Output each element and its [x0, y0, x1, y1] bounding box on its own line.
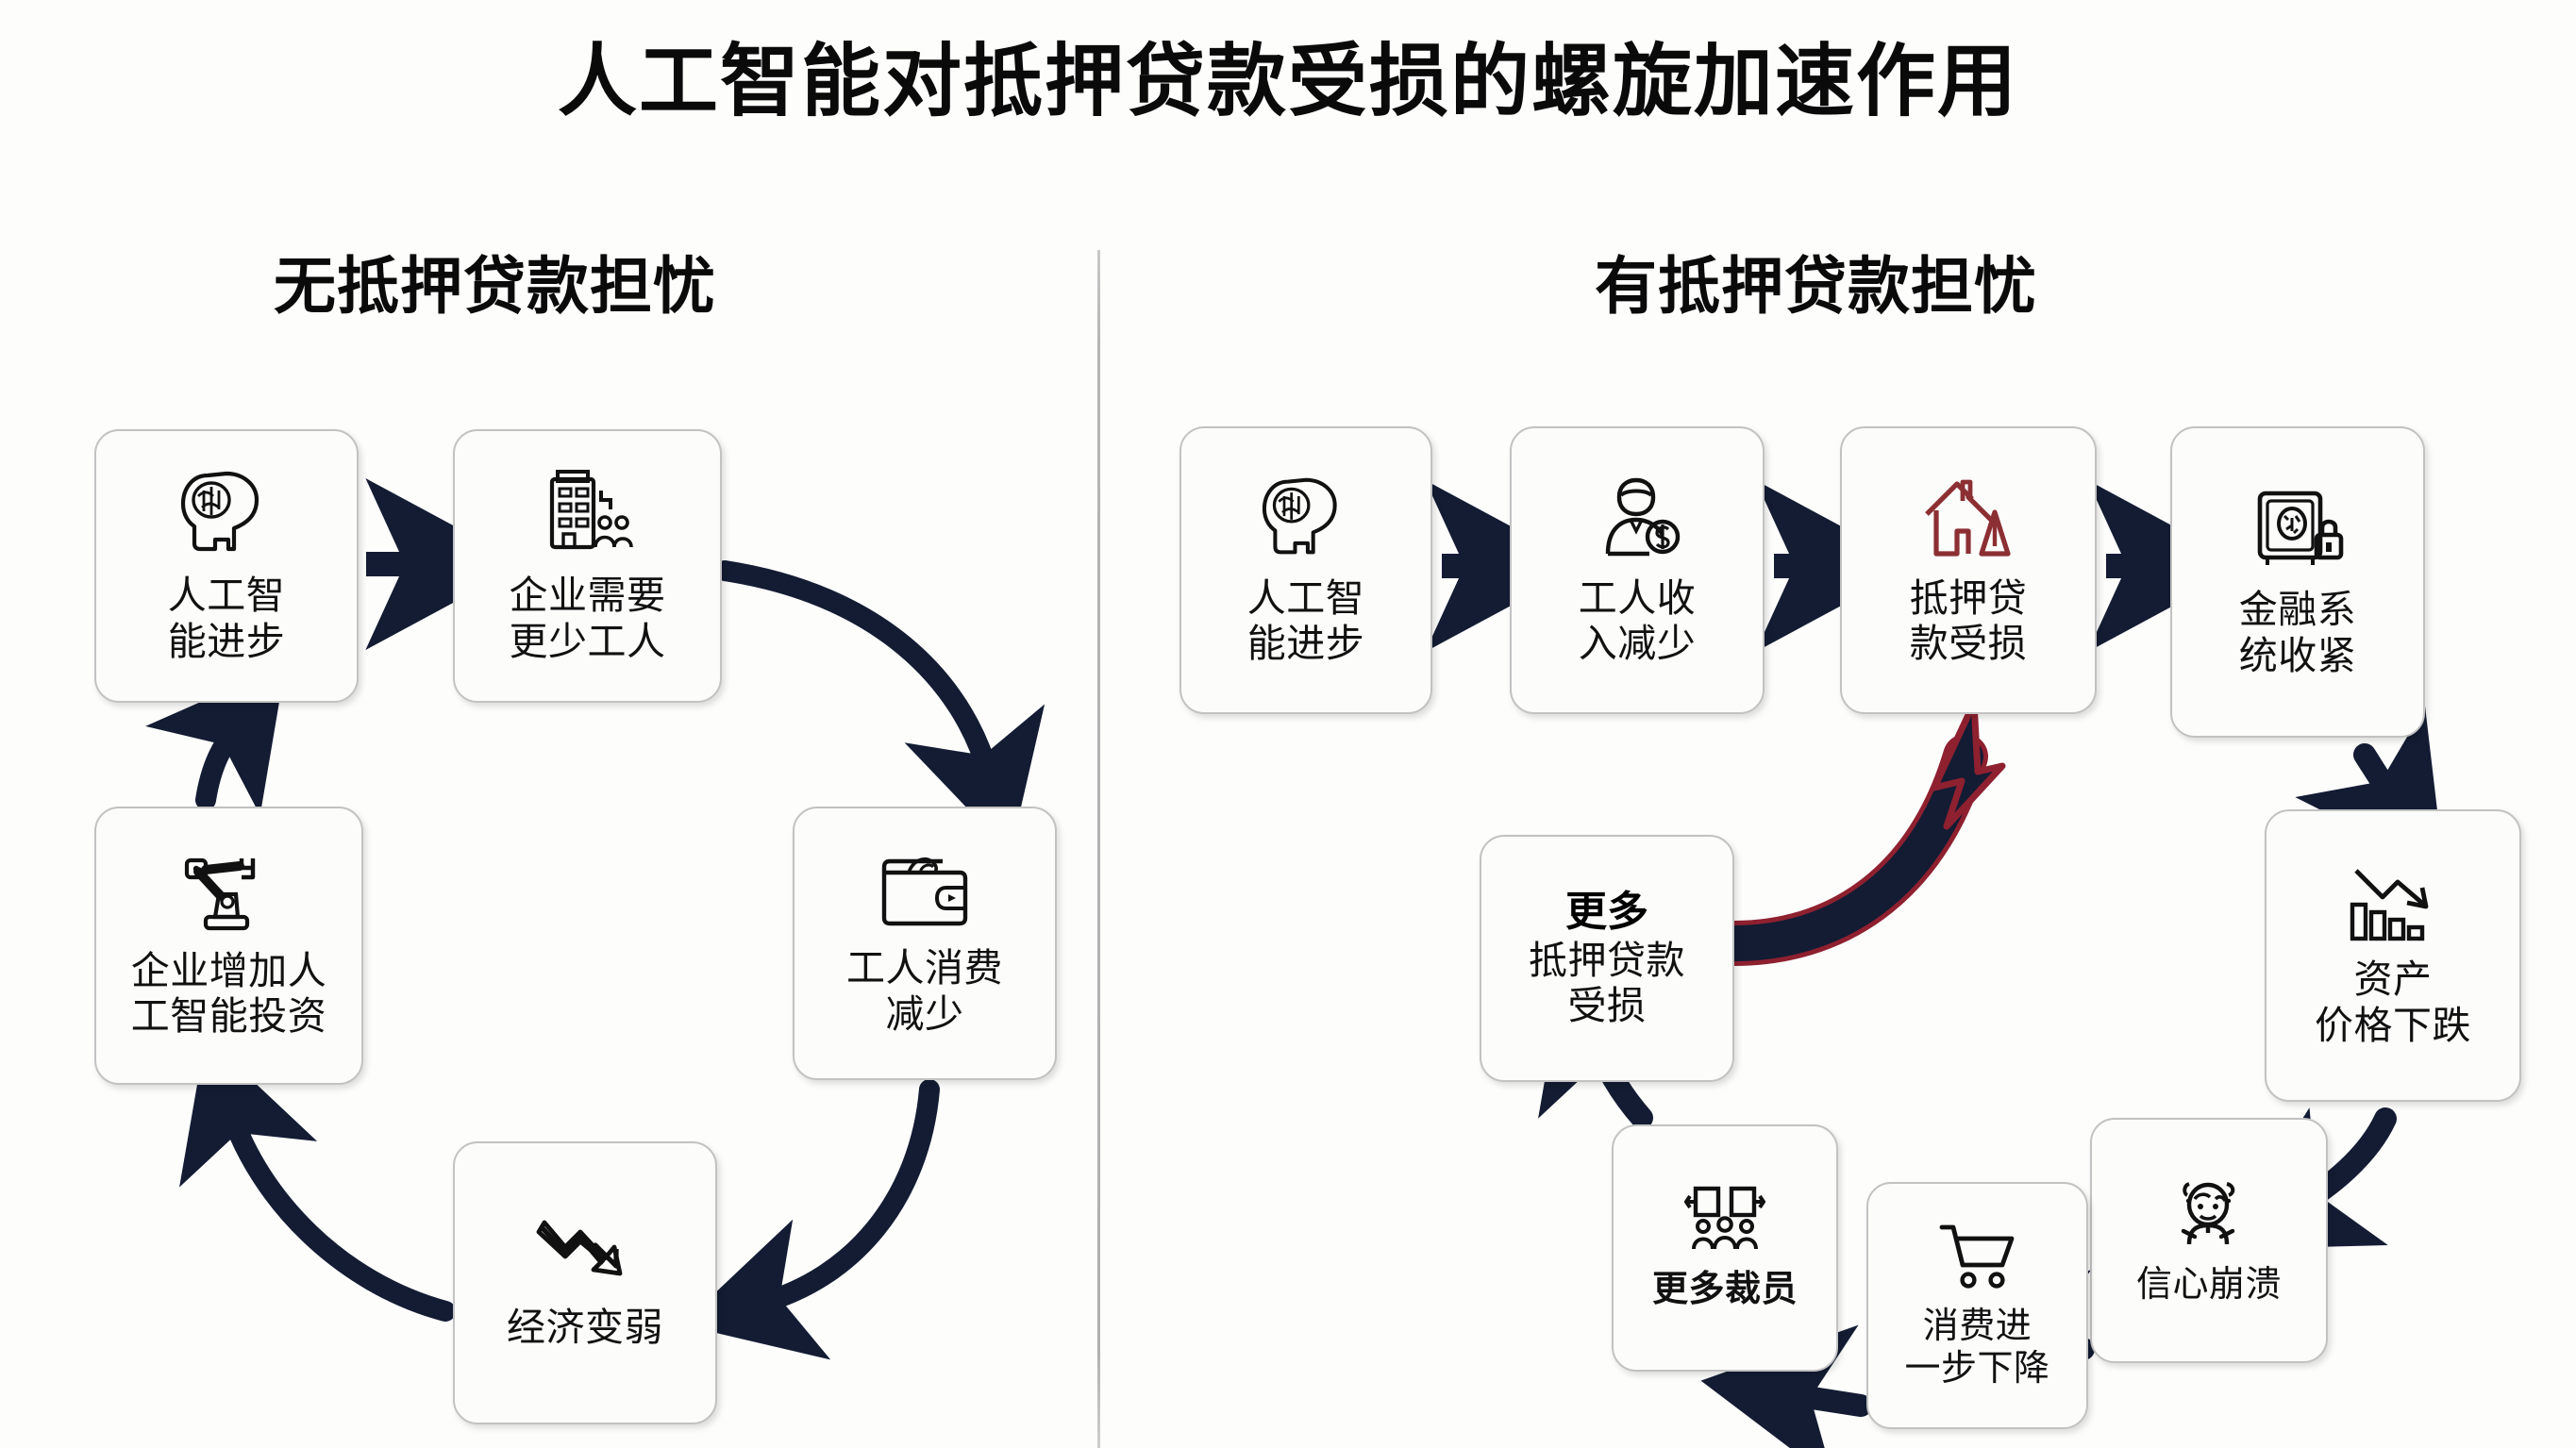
node-weaker-economy[interactable]: 经济变弱: [453, 1141, 717, 1424]
node-confidence-collapse[interactable]: 信心崩溃: [2090, 1118, 2328, 1363]
section-header-left: 无抵押贷款担忧: [274, 236, 716, 326]
brain-head-icon: [177, 468, 276, 563]
node-label: 抵押贷 款受损: [1904, 575, 2033, 667]
layoff-people-icon: [1684, 1185, 1765, 1259]
node-label: 抵押贷款 受损: [1523, 938, 1691, 1029]
node-label: 人工智 能进步: [1242, 575, 1371, 667]
node-label-emphasis: 更多: [1565, 888, 1648, 938]
node-more-mortgage-damage[interactable]: 更多 抵押贷款 受损: [1480, 835, 1734, 1082]
page-title: 人工智能对抵押贷款受损的螺旋加速作用: [0, 38, 2576, 125]
node-firms-invest-ai[interactable]: 企业增加人 工智能投资: [94, 807, 363, 1085]
node-consumption-drop[interactable]: 消费进 一步下降: [1866, 1182, 2088, 1429]
robot-arm-icon: [179, 853, 279, 939]
node-label: 信心崩溃: [2131, 1264, 2287, 1307]
node-ai-progress-left[interactable]: 人工智 能进步: [94, 429, 359, 703]
infographic-canvas: 人工智能对抵押贷款受损的螺旋加速作用 无抵押贷款担忧 有抵押贷款担忧: [0, 0, 2576, 1448]
falling-bar-chart-icon: [2345, 863, 2441, 947]
node-label: 企业需要 更少工人: [504, 573, 672, 664]
node-worker-income-down[interactable]: 工人收 入减少: [1510, 426, 1765, 714]
node-mortgage-damage[interactable]: 抵押贷 款受损: [1840, 426, 2097, 714]
wallet-icon: [875, 850, 975, 936]
node-fewer-workers[interactable]: 企业需要 更少工人: [453, 429, 722, 703]
node-financial-tightening[interactable]: 金融系 统收紧: [2170, 426, 2425, 738]
node-label: 经济变弱: [501, 1305, 669, 1350]
brain-head-icon: [1259, 474, 1353, 566]
shopping-cart-icon: [1938, 1222, 2017, 1296]
arrow-l5-to-l1: [206, 728, 236, 800]
down-trend-arrow-icon: [533, 1215, 637, 1295]
damaged-house-icon: [1919, 474, 2017, 566]
node-worker-spending-down[interactable]: 工人消费 减少: [793, 807, 1057, 1080]
node-label: 工人消费 减少: [841, 945, 1009, 1037]
safe-lock-icon: [2250, 486, 2345, 577]
arrow-r7-to-r8: [1788, 1394, 1861, 1406]
node-label: 工人收 入减少: [1573, 575, 1702, 667]
node-label: 资产 价格下跌: [2309, 957, 2477, 1048]
node-label: 消费进 一步下降: [1899, 1306, 2055, 1390]
feedback-arrow-r9-to-r3: [1734, 703, 2002, 943]
node-label: 更多裁员: [1647, 1269, 1803, 1311]
node-label: 金融系 统收紧: [2233, 587, 2363, 678]
node-label: 人工智 能进步: [162, 573, 292, 664]
arrow-l4-to-l5: [231, 1113, 445, 1311]
section-header-right: 有抵押贷款担忧: [1595, 236, 2037, 326]
node-more-layoffs[interactable]: 更多裁员: [1612, 1124, 1838, 1372]
arrow-l2-to-l3: [725, 571, 989, 775]
worried-person-icon: [2168, 1174, 2250, 1255]
arrow-r4-to-r5: [2365, 755, 2394, 800]
arrow-l3-to-l4: [760, 1090, 929, 1304]
node-label: 企业增加人 工智能投资: [125, 948, 333, 1040]
node-asset-prices-fall[interactable]: 资产 价格下跌: [2265, 809, 2521, 1102]
office-workers-icon: [537, 468, 639, 563]
vertical-divider: [1097, 250, 1100, 1448]
node-ai-progress-right[interactable]: 人工智 能进步: [1179, 426, 1432, 714]
worker-dollar-icon: [1591, 474, 1683, 566]
